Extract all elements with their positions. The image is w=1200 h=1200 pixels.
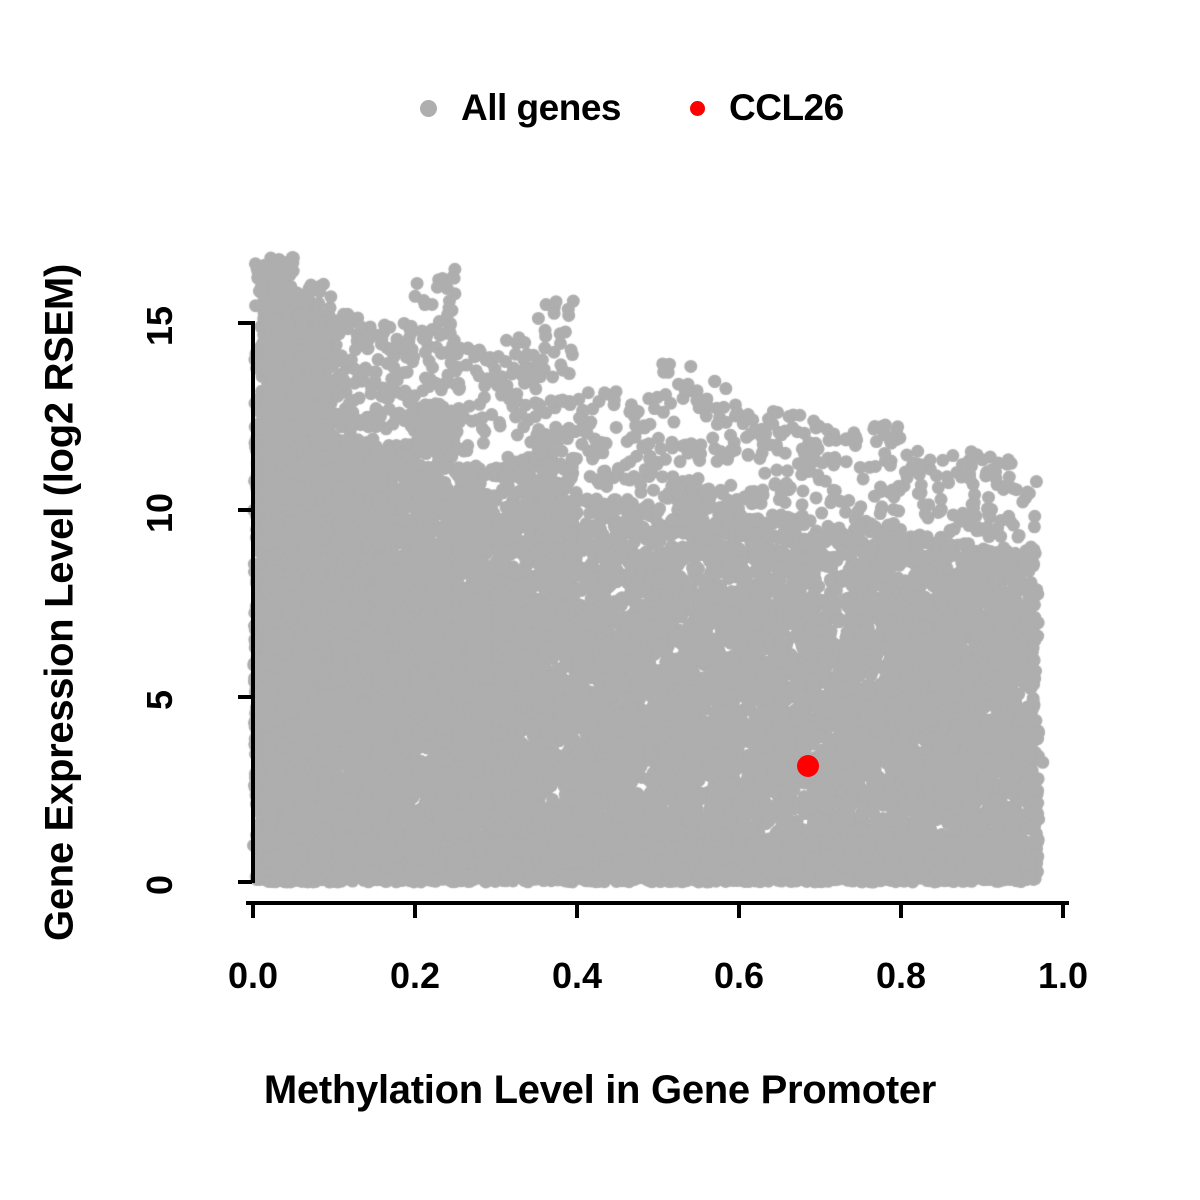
- scatter-plot-figure: All genes CCL26 15 10 5 0 0.0 0.2 0.4 0.…: [0, 0, 1200, 1200]
- x-tick-label-0.2: 0.2: [355, 955, 475, 997]
- y-tick-label-0: 0: [139, 845, 181, 925]
- plot-area: [0, 0, 1200, 1200]
- x-axis-line: [246, 901, 1069, 905]
- x-tick-label-0.8: 0.8: [841, 955, 961, 997]
- x-tick-label-1.0: 1.0: [1003, 955, 1123, 997]
- x-tick-1.0: [1061, 901, 1065, 918]
- ccl26-highlight-point: [797, 755, 819, 777]
- y-tick-0: [238, 880, 252, 884]
- y-tick-5: [238, 695, 252, 699]
- y-axis-title: Gene Expression Level (log2 RSEM): [38, 203, 83, 1003]
- x-tick-0.2: [413, 901, 417, 918]
- x-tick-label-0.4: 0.4: [517, 955, 637, 997]
- y-axis-line: [251, 321, 255, 883]
- x-tick-label-0.0: 0.0: [193, 955, 313, 997]
- y-tick-label-5: 5: [139, 660, 181, 740]
- x-tick-label-0.6: 0.6: [679, 955, 799, 997]
- y-tick-label-15: 15: [139, 286, 181, 366]
- scatter-points-layer: [0, 0, 1200, 1200]
- x-tick-0.0: [251, 901, 255, 918]
- x-axis-title: Methylation Level in Gene Promoter: [0, 1068, 1200, 1113]
- y-tick-10: [238, 508, 252, 512]
- y-tick-15: [238, 321, 252, 325]
- x-tick-0.8: [899, 901, 903, 918]
- y-tick-label-10: 10: [139, 473, 181, 553]
- x-tick-0.4: [575, 901, 579, 918]
- x-tick-0.6: [737, 901, 741, 918]
